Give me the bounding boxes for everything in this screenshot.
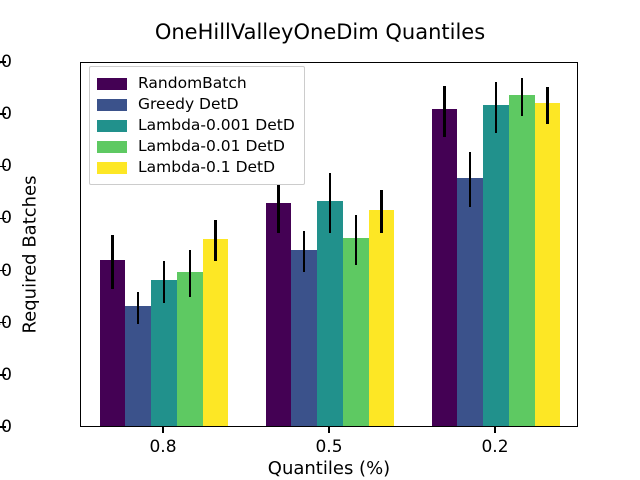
legend-item: Lambda-0.001 DetD [97, 115, 295, 136]
error-bar [469, 152, 471, 207]
x-axis-label: Quantiles (%) [80, 458, 578, 479]
page-title: OneHillValleyOneDim Quantiles [0, 20, 640, 44]
legend-item: Lambda-0.01 DetD [97, 136, 295, 157]
y-axis-tick-mark [0, 322, 6, 323]
legend-color-swatch [97, 162, 127, 174]
y-axis-tick-mark [0, 166, 6, 167]
bar [509, 95, 535, 426]
error-bar [355, 215, 357, 265]
error-bar [163, 261, 165, 303]
error-bar [137, 292, 139, 323]
bar [483, 105, 509, 426]
bar [317, 201, 343, 426]
legend-item: Lambda-0.1 DetD [97, 157, 295, 178]
error-bar [214, 220, 216, 261]
legend-item: RandomBatch [97, 73, 295, 94]
y-axis-tick-mark [0, 218, 6, 219]
x-axis-tick-label: 0.2 [455, 437, 535, 457]
legend: RandomBatchGreedy DetDLambda-0.001 DetDL… [89, 66, 305, 185]
error-bar [111, 235, 113, 289]
error-bar [443, 86, 445, 137]
error-bar [329, 173, 331, 233]
y-axis-tick-mark [0, 270, 6, 271]
legend-item: Greedy DetD [97, 94, 295, 115]
error-bar [277, 177, 279, 233]
y-axis-tick-mark [0, 374, 6, 375]
legend-color-swatch [97, 78, 127, 90]
x-axis-tick-mark [328, 427, 329, 433]
legend-item-label: Lambda-0.001 DetD [138, 118, 295, 134]
x-axis-tick-mark [162, 427, 163, 433]
bar [203, 239, 229, 426]
bar [432, 109, 458, 426]
legend-item-label: RandomBatch [138, 76, 247, 92]
y-axis-label: Required Batches [20, 75, 41, 435]
x-axis-tick-label: 0.5 [289, 437, 369, 457]
x-axis-tick-mark [494, 427, 495, 433]
legend-color-swatch [97, 141, 127, 153]
error-bar [303, 231, 305, 272]
error-bar [380, 190, 382, 233]
error-bar [189, 250, 191, 297]
x-axis-tick-label: 0.8 [123, 437, 203, 457]
error-bar [546, 87, 548, 124]
bar [535, 103, 561, 426]
legend-item-label: Greedy DetD [138, 97, 239, 113]
error-bar [495, 82, 497, 133]
bar [457, 178, 483, 426]
error-bar [521, 78, 523, 116]
bar [291, 250, 317, 426]
legend-item-label: Lambda-0.01 DetD [138, 139, 285, 155]
bar [369, 210, 395, 426]
y-axis-tick-mark [0, 113, 6, 114]
legend-item-label: Lambda-0.1 DetD [138, 160, 275, 176]
bar [125, 306, 151, 426]
bar [343, 238, 369, 426]
bar [266, 203, 292, 426]
legend-color-swatch [97, 99, 127, 111]
y-axis-tick-mark [0, 426, 6, 427]
y-axis-tick-mark [0, 61, 6, 62]
legend-color-swatch [97, 120, 127, 132]
bar-chart-figure: OneHillValleyOneDim Quantiles 0204060801… [0, 0, 640, 480]
